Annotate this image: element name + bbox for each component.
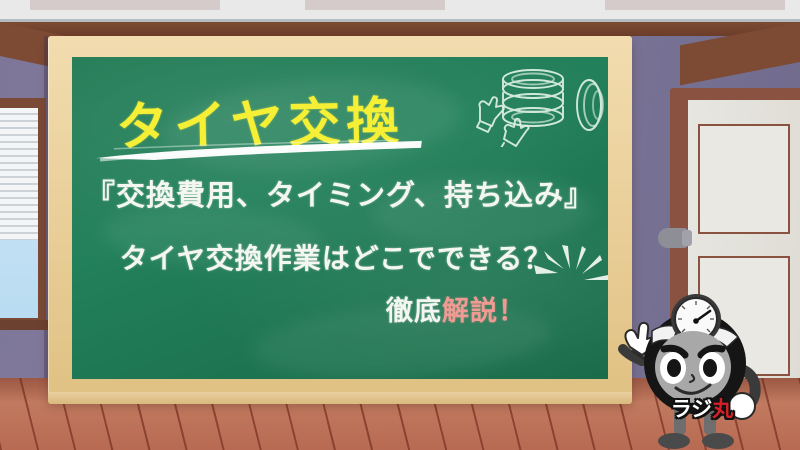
board-line-3: 徹底解説！ (72, 289, 594, 328)
ceiling-light (30, 0, 220, 10)
blackboard-surface: タイヤ交換 『交換費用、タイミング、持ち込み』 タイヤ交換作業はどこでできる？ … (72, 57, 608, 379)
mascot-rajimaru (600, 275, 800, 450)
window-blinds (0, 108, 38, 240)
board-line-1: 『交換費用、タイミング、持ち込み』 (82, 172, 598, 214)
window-with-blinds (0, 98, 46, 328)
crown-molding (0, 22, 800, 36)
board-line-3-plain: 徹底 (386, 296, 442, 327)
ceiling-light (605, 0, 785, 10)
door-panel-upper (698, 124, 790, 234)
work-gloves-doodle (470, 95, 540, 147)
thumbnail-canvas: タイヤ交換 『交換費用、タイミング、持ち込み』 タイヤ交換作業はどこでできる？ … (0, 0, 800, 450)
blackboard-chalk-tray (48, 392, 632, 404)
board-line-2: タイヤ交換作業はどこでできる？ (86, 237, 586, 277)
board-line-3-accent: 解説！ (442, 296, 526, 327)
window-pane (0, 108, 38, 318)
window-sill (0, 320, 50, 330)
ceiling-light (305, 0, 445, 10)
door-knob (658, 228, 688, 248)
sparkle-burst-doodle (532, 243, 608, 303)
